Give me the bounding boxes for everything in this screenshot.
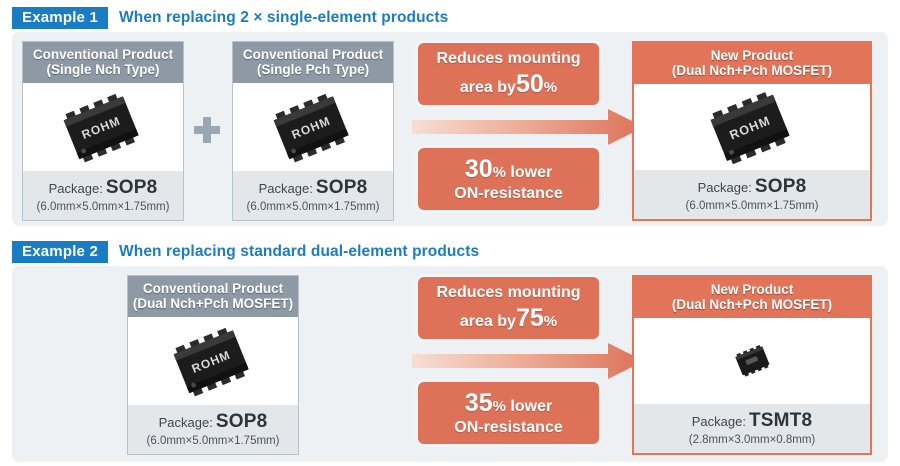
card-package-info: Package:SOP8 (6.0mm×5.0mm×1.75mm) [128,405,298,454]
card-header-line1: Conventional Product [243,47,383,62]
callout-line-2: area by75% [460,303,557,334]
card-header: Conventional Product (Single Nch Type) [23,42,183,83]
callout-value: 75 [516,304,544,332]
sop8-chip-icon: ROHM [51,90,155,164]
callout-on-resistance: 30% lower ON-resistance [418,148,599,210]
card-header-line1: New Product [711,48,794,63]
callout-line-1: 30% lower [465,154,552,185]
package-name: SOP8 [106,177,158,198]
card-chip-area: ROHM [23,83,183,171]
card-package-info: Package:SOP8 (6.0mm×5.0mm×1.75mm) [233,171,393,220]
package-line: Package:SOP8 [25,177,181,199]
card-header-line2: (Dual Nch+Pch MOSFET) [636,63,868,78]
transition-arrow-icon [412,109,644,150]
callout-value: 30 [465,155,493,183]
package-label: Package: [698,180,752,195]
package-line: Package:SOP8 [235,177,391,199]
card-header-line1: New Product [711,282,794,297]
example-1-panel: Conventional Product (Single Nch Type) [12,32,888,226]
conventional-product-card-pch: Conventional Product (Single Pch Type) [232,41,394,221]
card-chip-area: ROHM [128,317,298,405]
callout-value: 35 [465,389,493,417]
conventional-product-card-dual: Conventional Product (Dual Nch+Pch MOSFE… [127,275,299,455]
card-header-line1: Conventional Product [33,47,173,62]
package-name: TSMT8 [749,410,812,431]
sop8-chip-icon: ROHM [161,324,265,398]
package-label: Package: [259,181,313,196]
package-dimensions: (6.0mm×5.0mm×1.75mm) [25,201,181,213]
package-dimensions: (2.8mm×3.0mm×0.8mm) [636,434,868,446]
callout-on-resistance: 35% lower ON-resistance [418,382,599,444]
package-dimensions: (6.0mm×5.0mm×1.75mm) [235,201,391,213]
callout-line-1: Reduces mounting [436,283,580,303]
card-package-info: Package:SOP8 (6.0mm×5.0mm×1.75mm) [634,170,870,219]
card-header-line2: (Dual Nch+Pch MOSFET) [130,296,296,311]
package-dimensions: (6.0mm×5.0mm×1.75mm) [130,435,296,447]
example-2-badge: Example 2 [12,241,108,263]
callout-unit: % [493,164,506,181]
card-header-line2: (Single Pch Type) [235,62,391,77]
package-line: Package:TSMT8 [636,410,868,432]
new-product-card: New Product (Dual Nch+Pch MOSFET) [632,275,872,455]
sop8-chip-icon: ROHM [261,90,365,164]
example-2-heading: Example 2 When replacing standard dual-e… [12,240,479,264]
card-header-line1: Conventional Product [143,281,283,296]
callout-prefix: area by [460,79,516,96]
card-package-info: Package:TSMT8 (2.8mm×3.0mm×0.8mm) [634,404,870,453]
callout-value: 50 [516,70,544,98]
example-2-title: When replacing standard dual-element pro… [119,243,479,261]
card-chip-area: ROHM [233,83,393,171]
callout-line-1: 35% lower [465,388,552,419]
card-chip-area [634,318,870,404]
package-line: Package:SOP8 [636,176,868,198]
sop8-chip-icon: ROHM [697,88,807,166]
callout-unit: % [544,313,557,330]
callout-line-2: ON-resistance [454,184,563,204]
card-header: New Product (Dual Nch+Pch MOSFET) [634,277,870,318]
new-product-card: New Product (Dual Nch+Pch MOSFET) [632,41,872,221]
card-header: Conventional Product (Single Pch Type) [233,42,393,83]
package-label: Package: [692,414,746,429]
example-2-panel: Conventional Product (Dual Nch+Pch MOSFE… [12,266,888,462]
package-label: Package: [159,415,213,430]
card-header-line2: (Single Nch Type) [25,62,181,77]
card-chip-area: ROHM [634,84,870,170]
callout-line-1: Reduces mounting [436,49,580,69]
conventional-product-card-nch: Conventional Product (Single Nch Type) [22,41,184,221]
package-name: SOP8 [316,177,368,198]
callout-unit: % [493,398,506,415]
example-1-title: When replacing 2 × single-element produc… [119,9,448,27]
callout-prefix: area by [460,313,516,330]
product-comparison-diagram: Example 1 When replacing 2 × single-elem… [0,0,900,466]
package-line: Package:SOP8 [130,411,296,433]
callout-suffix: lower [506,398,552,415]
package-name: SOP8 [216,411,268,432]
example-1-badge: Example 1 [12,7,108,29]
card-package-info: Package:SOP8 (6.0mm×5.0mm×1.75mm) [23,171,183,220]
card-header: New Product (Dual Nch+Pch MOSFET) [634,43,870,84]
transition-arrow-icon [412,343,644,384]
callout-mounting-area: Reduces mounting area by50% [418,43,599,105]
package-name: SOP8 [755,176,807,197]
package-dimensions: (6.0mm×5.0mm×1.75mm) [636,200,868,212]
plus-sign-icon [194,117,220,143]
callout-line-2: area by50% [460,69,557,100]
package-label: Package: [49,181,103,196]
example-2-section: Example 2 When replacing standard dual-e… [0,234,900,466]
card-header-line2: (Dual Nch+Pch MOSFET) [636,297,868,312]
callout-suffix: lower [506,164,552,181]
example-1-section: Example 1 When replacing 2 × single-elem… [0,0,900,232]
callout-unit: % [544,79,557,96]
card-header: Conventional Product (Dual Nch+Pch MOSFE… [128,276,298,317]
callout-mounting-area: Reduces mounting area by75% [418,277,599,339]
example-1-heading: Example 1 When replacing 2 × single-elem… [12,6,448,30]
tsmt8-chip-icon [726,338,778,384]
callout-line-2: ON-resistance [454,418,563,438]
